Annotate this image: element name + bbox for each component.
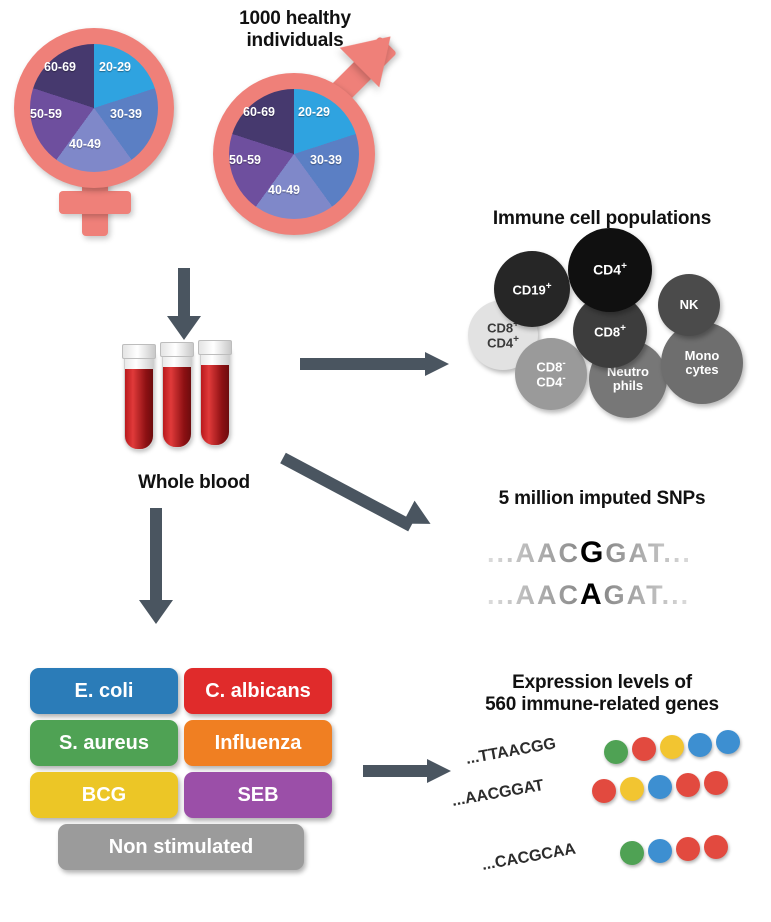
bead-row3-2 [648,839,672,863]
stimulus-s-aureus[interactable]: S. aureus [30,720,178,766]
male-symbol: 20-29 30-39 40-49 50-59 60-69 [205,35,435,265]
bead-row2-3 [648,775,672,799]
cd8neg-cd4neg-line1: CD8 [536,359,562,374]
cohort-title-line1: 1000 healthy [170,8,420,30]
sequence-text-3: ...CACGCAA [480,841,577,875]
female-symbol: 20-29 30-39 40-49 50-59 60-69 [6,14,206,244]
gene-expression-beads: ...TTAACGG ...AACGGAT ...CACGCAA [452,735,762,915]
immune-cell-cd8neg-cd4neg: CD8-CD4- [515,338,587,410]
snp-row1-suffix: GAT... [605,538,692,568]
bead-row2-5 [704,771,728,795]
blood-tube-cap-1 [122,344,156,359]
immune-cell-cd4pos: CD4+ [568,228,652,312]
bead-row1-5 [716,730,740,754]
blood-tube-1 [124,352,154,450]
male-age-label-30-39: 30-39 [310,153,342,167]
neutrophils-line2: phils [613,378,643,393]
immune-cell-nk: NK [658,274,720,336]
stimulus-e-coli[interactable]: E. coli [30,668,178,714]
snp-row2-prefix: ...AAC [487,580,580,610]
snp-row2-suffix: GAT... [604,580,691,610]
cd8pos-line1: CD8 [594,324,620,339]
bead-row2-4 [676,773,700,797]
bead-row3-1 [620,841,644,865]
bead-row1-4 [688,733,712,757]
expression-title-line2: 560 immune-related genes [452,694,752,716]
female-age-label-60-69: 60-69 [44,60,76,74]
arrow-blood-to-stimuli-shaft [150,508,162,603]
snp-sequence-row-2: ...AACAGAT... [487,578,690,612]
bead-row2-2 [620,777,644,801]
blood-tube-3 [200,348,230,446]
immune-title: Immune cell populations [452,208,752,230]
bead-row3-4 [704,835,728,859]
snp-row1-prefix: ...AAC [487,538,580,568]
bead-row1-2 [632,737,656,761]
nk-line1: NK [680,297,699,312]
stimulus-bcg[interactable]: BCG [30,772,178,818]
stimulus-influenza[interactable]: Influenza [184,720,332,766]
cd8pos-cd4pos-line1: CD8 [487,320,513,335]
expression-title-line1: Expression levels of [452,672,752,694]
snp-row2-highlight: A [580,578,604,611]
female-symbol-crossbar [59,191,131,214]
sequence-text-1: ...TTAACGG [464,735,557,769]
blood-tube-cap-3 [198,340,232,355]
stimulus-c-albicans[interactable]: C. albicans [184,668,332,714]
blood-tube-2 [162,350,192,448]
expression-title: Expression levels of 560 immune-related … [452,672,752,717]
blood-tubes [110,340,280,460]
arrow-stimuli-to-expression-head [427,759,451,783]
immune-cell-cluster: CD8+CD4+ CD8-CD4- Neutrophils Monocytes … [465,240,760,410]
snp-sequence-row-1: ...AACGGAT... [487,536,692,570]
cd4pos-line1: CD4 [593,262,621,278]
male-age-label-40-49: 40-49 [268,183,300,197]
immune-cell-monocytes: Monocytes [661,322,743,404]
female-age-label-50-59: 50-59 [30,107,62,121]
female-age-label-40-49: 40-49 [69,137,101,151]
arrow-blood-to-immune-shaft [300,358,430,370]
female-age-label-20-29: 20-29 [99,60,131,74]
whole-blood-label: Whole blood [84,472,304,494]
female-age-label-30-39: 30-39 [110,107,142,121]
stimulus-non-stimulated[interactable]: Non stimulated [58,824,304,870]
snp-row1-highlight: G [580,536,605,569]
cd19pos-line1: CD19 [512,282,545,297]
immune-cell-cd19pos: CD19+ [494,251,570,327]
blood-tube-cap-2 [160,342,194,357]
cd8neg-cd4neg-line2: CD4 [536,374,562,389]
cd8pos-cd4pos-line2: CD4 [487,335,513,350]
snp-title: 5 million imputed SNPs [452,488,752,510]
bead-row2-1 [592,779,616,803]
arrow-cohort-to-blood-head [167,316,201,340]
stimulus-seb[interactable]: SEB [184,772,332,818]
male-age-label-50-59: 50-59 [229,153,261,167]
arrow-cohort-to-blood-shaft [178,268,190,320]
figure-canvas: 1000 healthy individuals 20-29 30-39 40-… [0,0,771,922]
bead-row3-3 [676,837,700,861]
male-age-label-60-69: 60-69 [243,105,275,119]
arrow-blood-to-stimuli-head [139,600,173,624]
bead-row1-3 [660,735,684,759]
sequence-text-2: ...AACGGAT [450,777,545,811]
stimuli-grid: E. coli C. albicans S. aureus Influenza … [30,668,340,878]
male-age-label-20-29: 20-29 [298,105,330,119]
bead-row1-1 [604,740,628,764]
monocytes-line2: cytes [685,362,718,377]
arrow-stimuli-to-expression-shaft [363,765,431,777]
arrow-blood-to-immune-head [425,352,449,376]
